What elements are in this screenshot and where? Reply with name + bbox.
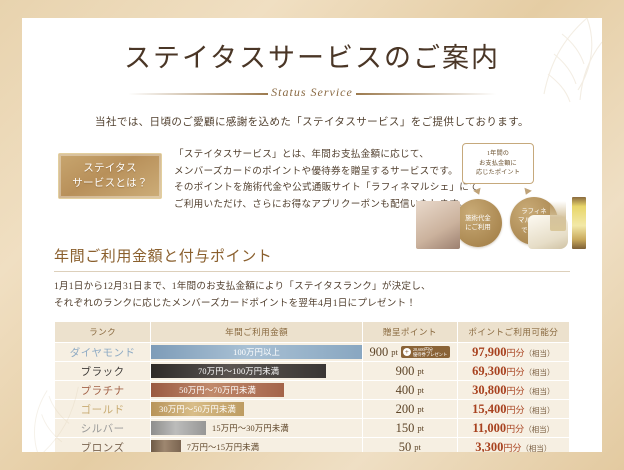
usable-equivalent-note: （相当） bbox=[524, 425, 554, 434]
title-divider: Status Service bbox=[128, 82, 496, 104]
callout-line-2: お支払金額に bbox=[466, 159, 530, 169]
circle-left-line-2: にご利用 bbox=[465, 224, 490, 231]
annual-amount-cell: 30万円～50万円未満 bbox=[151, 400, 362, 418]
usable-value-cell: 30,800円分（相当） bbox=[458, 381, 569, 399]
points-value: 200 bbox=[396, 402, 415, 417]
lead-text: 当社では、日頃のご愛顧に感謝を込めた「ステイタスサービス」をご提供しております。 bbox=[22, 114, 602, 129]
rank-name: ブロンズ bbox=[55, 438, 150, 452]
points-value: 900 bbox=[370, 345, 389, 360]
gift-badge-text: 28,600円分優待券プレゼント bbox=[413, 347, 447, 357]
annual-amount-cell: 100万円以上 bbox=[151, 343, 362, 361]
page-subtitle: Status Service bbox=[128, 85, 496, 100]
table-row: ブロンズ7万円～15万円未満50pt3,300円分（相当） bbox=[55, 438, 569, 452]
gift-points-cell: 400pt bbox=[363, 381, 457, 399]
treatment-photo bbox=[416, 201, 460, 249]
badge-line-1: ステイタス bbox=[83, 161, 137, 176]
usable-unit: 円分 bbox=[507, 348, 525, 358]
rank-name: プラチナ bbox=[55, 381, 150, 399]
arrow-down-left-icon bbox=[473, 188, 483, 197]
annual-amount-cell: 15万円～30万円未満 bbox=[151, 419, 362, 437]
table-header-row: ランク 年間ご利用金額 贈呈ポイント ポイントご利用可能分 bbox=[55, 322, 569, 342]
column-header-usable: ポイントご利用可能分 bbox=[458, 322, 569, 342]
usable-amount: 30,800 bbox=[472, 383, 506, 397]
what-is-status-service-badge: ステイタス サービスとは？ bbox=[58, 153, 162, 199]
points-unit: pt bbox=[417, 404, 424, 414]
table-row: ダイヤモンド100万円以上900pt+28,600円分優待券プレゼント97,90… bbox=[55, 343, 569, 361]
amount-bar-fill bbox=[151, 440, 181, 452]
rank-name: ダイヤモンド bbox=[55, 343, 150, 361]
usable-unit: 円分 bbox=[506, 424, 524, 434]
gift-points-cell: 200pt bbox=[363, 400, 457, 418]
rank-name: シルバー bbox=[55, 419, 150, 437]
section-note-line-1: 1月1日から12月31日まで、1年間のお支払金額により「ステイタスランク」が決定… bbox=[54, 279, 602, 296]
badge-line-2: サービスとは？ bbox=[72, 176, 148, 191]
table-row: ブラック70万円～100万円未満900pt69,300円分（相当） bbox=[55, 362, 569, 380]
usable-unit: 円分 bbox=[507, 367, 525, 377]
points-unit: pt bbox=[417, 366, 424, 376]
diffuser-photo bbox=[550, 201, 566, 231]
points-unit: pt bbox=[417, 385, 424, 395]
usable-amount: 69,300 bbox=[472, 364, 506, 378]
annual-amount-cell: 50万円～70万円未満 bbox=[151, 381, 362, 399]
column-header-rank: ランク bbox=[55, 322, 150, 342]
amount-bar: 50万円～70万円未満 bbox=[151, 383, 284, 397]
amount-bar: 15万円～30万円未満 bbox=[151, 421, 362, 435]
amount-bar-label: 7万円～15万円未満 bbox=[187, 441, 260, 452]
usable-equivalent-note: （相当） bbox=[525, 406, 555, 415]
usable-unit: 円分 bbox=[507, 405, 525, 415]
usable-amount: 11,000 bbox=[472, 421, 506, 435]
table-row: ゴールド30万円～50万円未満200pt15,400円分（相当） bbox=[55, 400, 569, 418]
usage-circle-treatment: 施術代金 にご利用 bbox=[454, 199, 502, 247]
usable-equivalent-note: （相当） bbox=[525, 368, 555, 377]
plus-icon: + bbox=[403, 348, 411, 356]
gift-points-cell: 50pt bbox=[363, 438, 457, 452]
amount-bar: 100万円以上 bbox=[151, 345, 362, 359]
intro-section: ステイタス サービスとは？ 「ステイタスサービス」とは、年間お支払金額に応じて、… bbox=[22, 145, 602, 241]
gift-badge-line-2: 優待券プレゼント bbox=[413, 352, 447, 357]
usable-unit: 円分 bbox=[507, 386, 525, 396]
rank-name: ゴールド bbox=[55, 400, 150, 418]
usable-value-cell: 69,300円分（相当） bbox=[458, 362, 569, 380]
annual-amount-cell: 70万円～100万円未満 bbox=[151, 362, 362, 380]
usable-amount: 97,900 bbox=[472, 345, 506, 359]
usable-amount: 3,300 bbox=[475, 440, 503, 453]
usable-equivalent-note: （相当） bbox=[525, 349, 555, 358]
page-title: ステイタスサービスのご案内 bbox=[22, 36, 602, 75]
amount-bar: 7万円～15万円未満 bbox=[151, 440, 362, 452]
illustration-group: 1年間の お支払金額に 応じたポイント 施術代金 にご利用 ラフィネ マルシェで… bbox=[422, 139, 598, 251]
usable-equivalent-note: （相当） bbox=[521, 444, 551, 453]
usable-unit: 円分 bbox=[503, 443, 521, 453]
section-divider bbox=[54, 271, 570, 272]
gift-points-cell: 150pt bbox=[363, 419, 457, 437]
column-header-points: 贈呈ポイント bbox=[363, 322, 457, 342]
rank-benefits-table: ランク 年間ご利用金額 贈呈ポイント ポイントご利用可能分 ダイヤモンド100万… bbox=[54, 321, 570, 452]
points-value: 50 bbox=[399, 440, 412, 453]
usable-value-cell: 3,300円分（相当） bbox=[458, 438, 569, 452]
arrow-down-right-icon bbox=[522, 188, 532, 197]
table-row: プラチナ50万円～70万円未満400pt30,800円分（相当） bbox=[55, 381, 569, 399]
usable-amount: 15,400 bbox=[472, 402, 506, 416]
usable-equivalent-note: （相当） bbox=[525, 387, 555, 396]
section-note: 1月1日から12月31日まで、1年間のお支払金額により「ステイタスランク」が決定… bbox=[54, 279, 602, 312]
circle-left-line-1: 施術代金 bbox=[465, 215, 491, 222]
amount-bar-fill bbox=[151, 421, 206, 435]
usable-value-cell: 11,000円分（相当） bbox=[458, 419, 569, 437]
usable-value-cell: 15,400円分（相当） bbox=[458, 400, 569, 418]
points-unit: pt bbox=[417, 423, 424, 433]
page-content-area: ステイタスサービスのご案内 Status Service 当社では、日頃のご愛顧… bbox=[22, 18, 602, 452]
points-value: 150 bbox=[396, 421, 415, 436]
points-value: 900 bbox=[396, 364, 415, 379]
section-note-line-2: それぞれのランクに応じたメンバーズカードポイントを翌年4月1日にプレゼント！ bbox=[54, 296, 602, 313]
amount-bar-label: 15万円～30万円未満 bbox=[212, 422, 289, 434]
amount-bar: 30万円～50万円未満 bbox=[151, 402, 244, 416]
rank-name: ブラック bbox=[55, 362, 150, 380]
table-body: ダイヤモンド100万円以上900pt+28,600円分優待券プレゼント97,90… bbox=[55, 343, 569, 452]
amount-bar: 70万円～100万円未満 bbox=[151, 364, 326, 378]
points-value: 400 bbox=[396, 383, 415, 398]
product-package-photo bbox=[572, 197, 586, 249]
callout-line-1: 1年間の bbox=[466, 149, 530, 159]
column-header-amount: 年間ご利用金額 bbox=[151, 322, 362, 342]
callout-line-3: 応じたポイント bbox=[466, 168, 530, 178]
coupon-gift-badge: +28,600円分優待券プレゼント bbox=[401, 346, 450, 358]
usable-value-cell: 97,900円分（相当） bbox=[458, 343, 569, 361]
points-unit: pt bbox=[391, 347, 398, 357]
annual-payment-callout: 1年間の お支払金額に 応じたポイント bbox=[462, 143, 534, 184]
points-unit: pt bbox=[414, 442, 421, 452]
gift-points-cell: 900pt bbox=[363, 362, 457, 380]
annual-amount-cell: 7万円～15万円未満 bbox=[151, 438, 362, 452]
page-header: ステイタスサービスのご案内 Status Service 当社では、日頃のご愛顧… bbox=[22, 18, 602, 129]
table-row: シルバー15万円～30万円未満150pt11,000円分（相当） bbox=[55, 419, 569, 437]
gift-points-cell: 900pt+28,600円分優待券プレゼント bbox=[363, 343, 457, 361]
